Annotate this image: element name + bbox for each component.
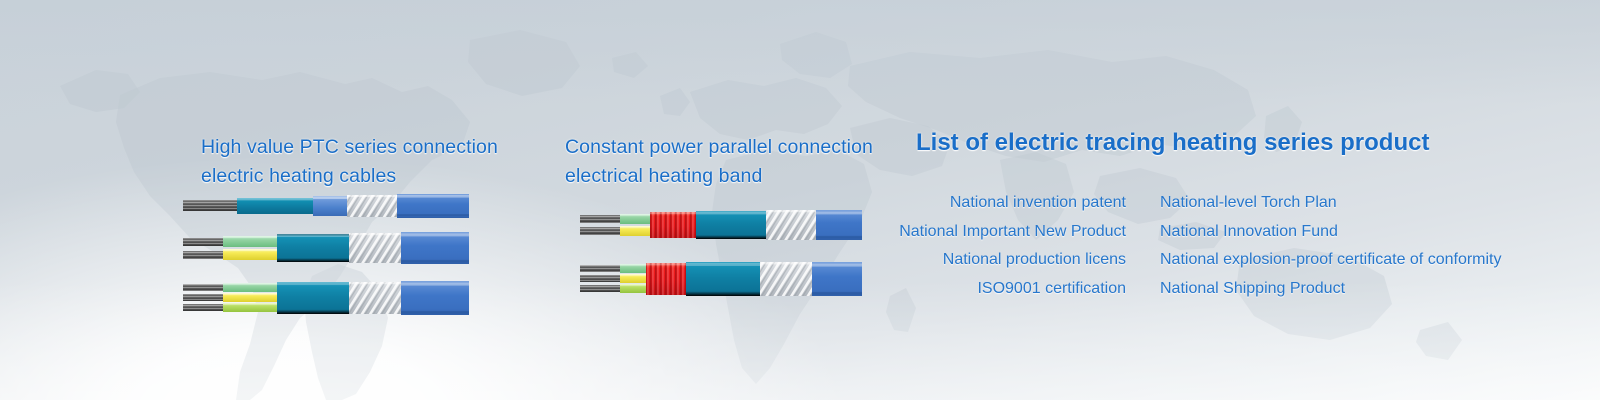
ptc-cable-3 <box>183 281 469 315</box>
heading-constant-power: Constant power parallel connection elect… <box>565 133 873 191</box>
conductor-strands <box>580 215 624 235</box>
cert-item: National production licens <box>874 246 1126 275</box>
heating-element-red <box>650 212 700 238</box>
conductor-strands <box>580 265 624 292</box>
conductor-strands <box>183 200 241 211</box>
conductor-strands <box>183 238 227 259</box>
cert-item: National Shipping Product <box>1160 275 1502 304</box>
constant-cable-2-jacket-extension <box>816 262 860 296</box>
ptc-cable-2 <box>183 231 469 265</box>
product-banner: High value PTC series connection electri… <box>0 0 1600 400</box>
cert-item: National Important New Product <box>874 218 1126 247</box>
heading-constant-line2: electrical heating band <box>565 162 873 191</box>
heading-ptc-line2: electric heating cables <box>201 162 498 191</box>
cert-item: National invention patent <box>874 189 1126 218</box>
certification-list-left: National invention patent National Impor… <box>874 189 1126 303</box>
page-title: List of electric tracing heating series … <box>916 128 1429 158</box>
certification-list-right: National-level Torch Plan National Innov… <box>1160 189 1502 303</box>
conductor-strands <box>183 284 227 311</box>
cert-item: National-level Torch Plan <box>1160 189 1502 218</box>
cert-item: National explosion-proof certificate of … <box>1160 246 1502 275</box>
constant-cable-1-jacket-extension <box>816 210 860 240</box>
heading-ptc-line1: High value PTC series connection <box>201 133 498 162</box>
cert-item: National Innovation Fund <box>1160 218 1502 247</box>
heating-element-red <box>646 263 690 295</box>
ptc-cable-1 <box>183 193 469 219</box>
heading-ptc-series: High value PTC series connection electri… <box>201 133 498 191</box>
banner-content: High value PTC series connection electri… <box>0 0 1600 400</box>
cert-item: ISO9001 certification <box>874 275 1126 304</box>
heading-constant-line1: Constant power parallel connection <box>565 133 873 162</box>
